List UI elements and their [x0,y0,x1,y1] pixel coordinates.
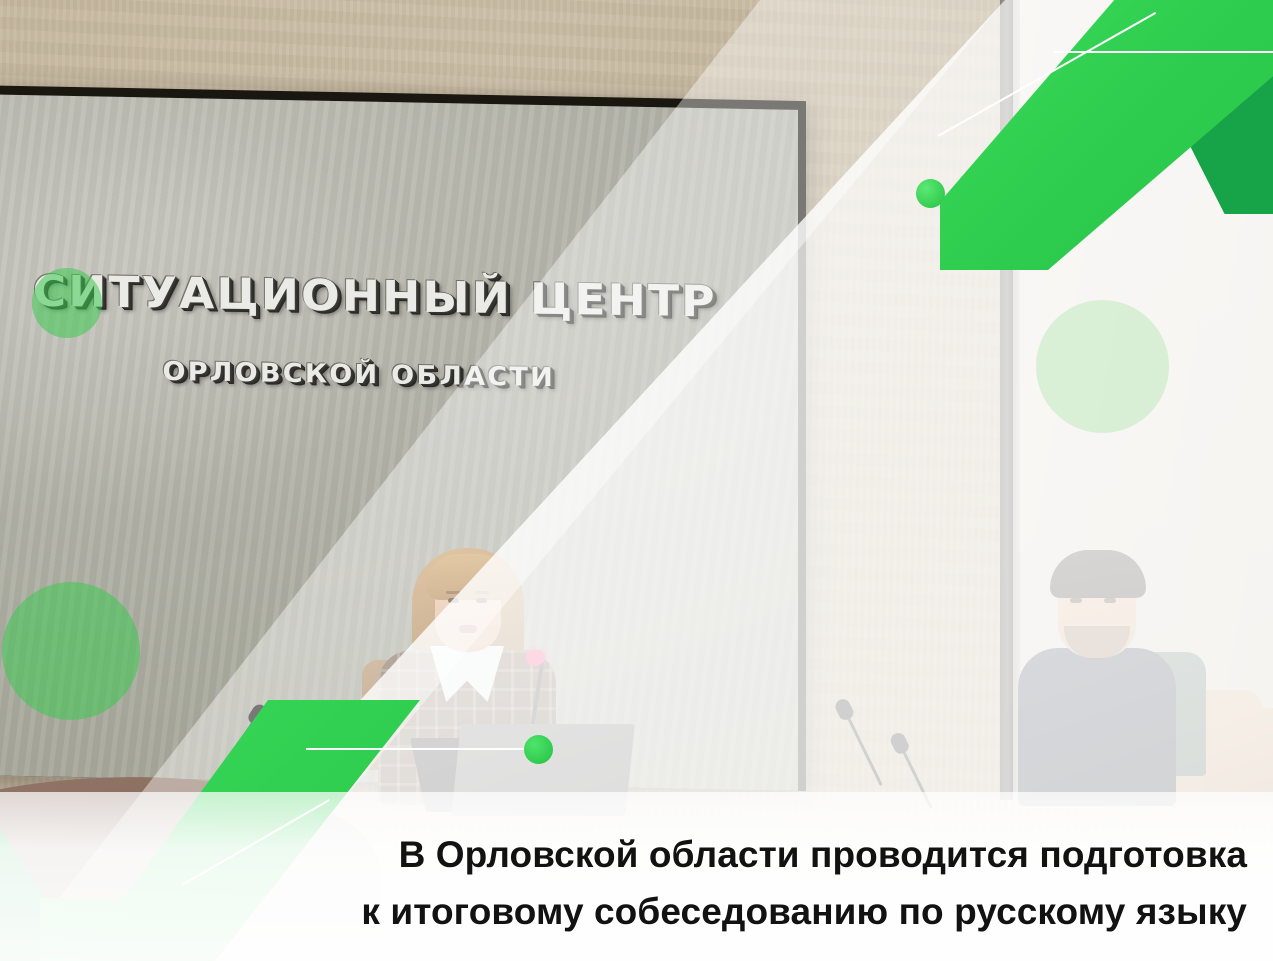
caption-text: В Орловской области проводится подготовк… [0,826,1273,940]
caption-line-1: В Орловской области проводится подготовк… [40,826,1247,883]
news-card: СИТУАЦИОННЫЙ ЦЕНТР ОРЛОВСКОЙ ОБЛАСТИ [0,0,1273,961]
caption-line-2: к итоговому собеседованию по русскому яз… [40,883,1247,940]
